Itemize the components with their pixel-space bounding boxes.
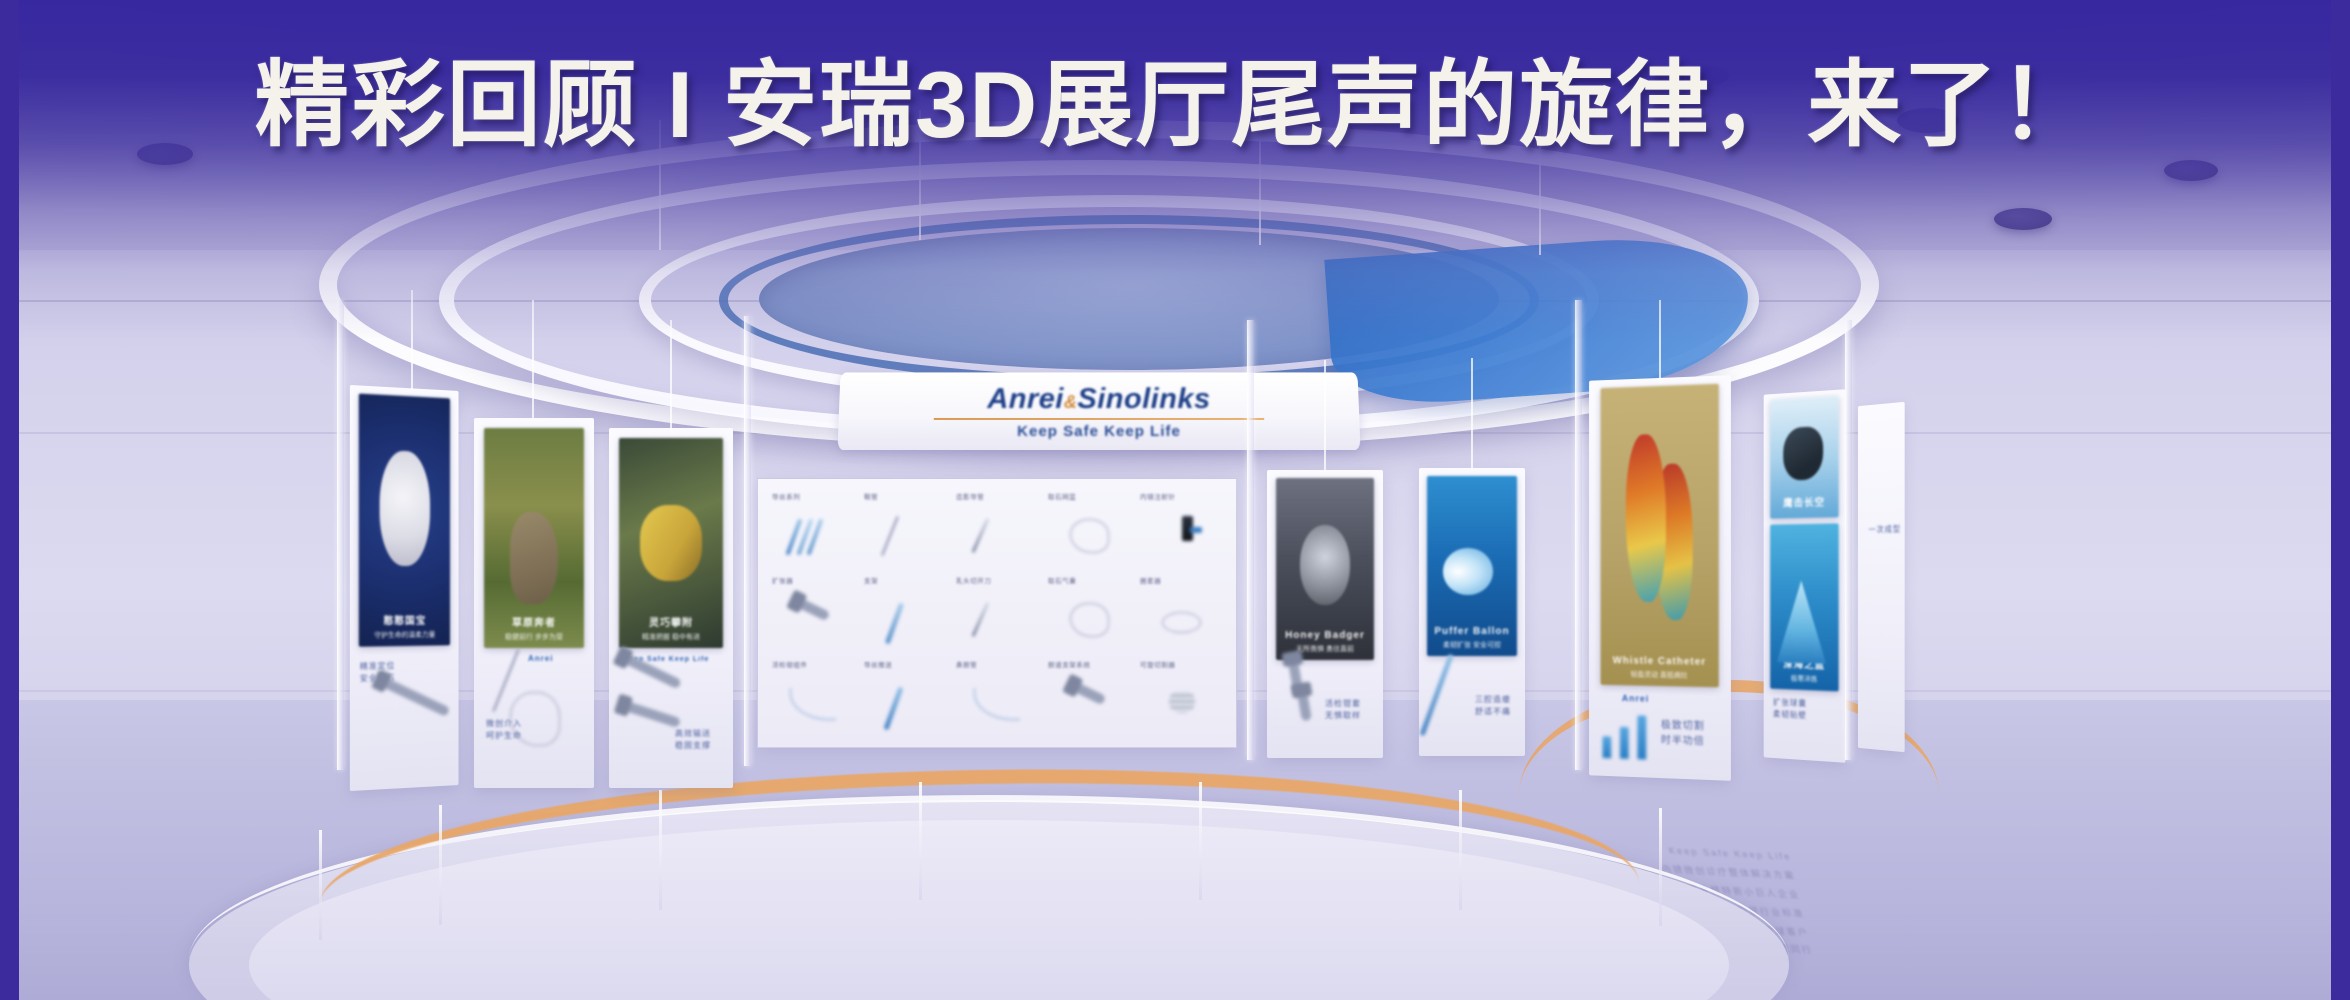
product-label: 可旋切割器 xyxy=(1140,659,1176,669)
frog-poster: 灵巧攀附 精准把握 稳中有进 xyxy=(619,438,723,648)
product-cell: 扩张器 xyxy=(768,573,858,655)
product-cell: 圈套器 xyxy=(1136,573,1226,655)
product-cell: 导丝推送 xyxy=(860,657,950,739)
glass-column xyxy=(1845,320,1852,760)
product-cell: 导丝系列 xyxy=(768,489,858,571)
bee-eater-poster-sub: 轻盈灵动 直抵病灶 xyxy=(1631,671,1688,679)
panel-frog: 灵巧攀附 精准把握 稳中有进 Keep Safe Keep Life 高效输送 … xyxy=(609,428,733,788)
bee-eater-poster: Whistle Catheter 轻盈灵动 直抵病灶 xyxy=(1600,384,1719,688)
product-label: 导丝系列 xyxy=(772,491,800,501)
brand-tagline: Keep Safe Keep Life xyxy=(1017,422,1181,439)
product-grid: 导丝系列 鞘管 造影导管 取石网篮 内镜注射针 扩张器 支架 乳头切开刀 取石气… xyxy=(768,489,1226,739)
product-cell: 可旋切割器 xyxy=(1136,657,1226,739)
panel-bee-eater: Whistle Catheter 轻盈灵动 直抵病灶 Anrei 极致切割 时半… xyxy=(1589,375,1731,781)
ocean-poster-title: Puffer Ballon xyxy=(1433,625,1511,639)
glass-column xyxy=(1247,320,1254,760)
product-label: 扩张器 xyxy=(772,575,793,585)
bee-eater-poster-title: Whistle Catheter xyxy=(1607,654,1712,669)
hanging-wire xyxy=(1471,358,1473,470)
stat-bar-chart xyxy=(1603,712,1647,759)
panel-label-badger: 活检钳套 无惧取样 xyxy=(1325,698,1361,722)
glass-column xyxy=(337,300,344,770)
product-cell: 胆道支架系统 xyxy=(1044,657,1134,739)
panel-badger: Honey Badger 无所畏惧 勇往直前 活检钳套 无惧取样 xyxy=(1267,470,1383,758)
brand-sign: Anrei&Sinolinks Keep Safe Keep Life xyxy=(837,372,1360,450)
panel-logo-bee-eater: Anrei xyxy=(1622,693,1649,704)
brand-name-right: Sinolinks xyxy=(1077,383,1210,415)
page-title: 精彩回顾 I 安瑞3D展厅尾声的旋律，来了！ xyxy=(255,58,2096,152)
badger-poster: Honey Badger 无所畏惧 勇往直前 xyxy=(1276,478,1373,660)
panel-kangaroo: 草原奔者 稳健前行 步步为营 Anrei 微创介入 呵护生命 xyxy=(474,418,594,788)
product-cell: 内镜注射针 xyxy=(1136,489,1226,571)
kangaroo-poster-sub: 稳健前行 步步为营 xyxy=(505,634,563,641)
eagle-poster-title: 鹰击长空 xyxy=(1774,496,1834,511)
frame-border-left xyxy=(0,0,19,1000)
product-label: 取石网篮 xyxy=(1048,491,1076,501)
product-cell: 乳头切开刀 xyxy=(952,573,1042,655)
product-label: 胆道支架系统 xyxy=(1048,659,1091,669)
badger-poster-sub: 无所畏惧 勇往直前 xyxy=(1296,646,1354,653)
product-label: 鞘管 xyxy=(864,491,878,501)
panda-poster-title: 憨憨国宝 xyxy=(364,615,444,629)
brand-name: Anrei&Sinolinks xyxy=(987,383,1211,416)
product-label: 活检钳组件 xyxy=(772,659,808,669)
panel-label-eagle: 扩张球囊 柔韧贴壁 xyxy=(1773,697,1807,723)
product-cell: 鼻胆管 xyxy=(952,657,1042,739)
ocean-poster-sub: 柔韧扩张 安全可控 xyxy=(1443,642,1501,649)
product-cell: 取石气囊 xyxy=(1044,573,1134,655)
product-label: 内镜注射针 xyxy=(1140,491,1176,501)
hanging-wire xyxy=(1324,360,1326,472)
product-label: 造影导管 xyxy=(956,491,984,501)
panel-label-frog: 高效输送 稳固支撑 xyxy=(675,728,711,752)
panel-label-right-edge: 一次成型 xyxy=(1869,523,1901,536)
iceberg-poster: 深海之蓝 极寒淬炼 xyxy=(1770,523,1839,691)
panel-logo-kangaroo: Anrei xyxy=(528,654,553,663)
hanging-wire xyxy=(411,290,413,390)
frog-poster-title: 灵巧攀附 xyxy=(625,617,717,631)
product-label: 鼻胆管 xyxy=(956,659,977,669)
panel-eagle: 鹰击长空 深海之蓝 极寒淬炼 扩张球囊 柔韧贴壁 xyxy=(1764,389,1846,763)
glass-column xyxy=(744,316,751,766)
panel-label-bee-eater: 极致切割 时半功倍 xyxy=(1661,718,1705,749)
product-cell: 活检钳组件 xyxy=(768,657,858,739)
panel-right-edge: 一次成型 xyxy=(1858,402,1905,752)
frog-poster-sub: 精准把握 稳中有进 xyxy=(642,634,700,641)
badger-poster-title: Honey Badger xyxy=(1282,629,1368,643)
panda-poster: 憨憨国宝 守护生命的温柔力量 xyxy=(359,394,450,647)
hanging-wire xyxy=(532,300,534,420)
panda-poster-sub: 守护生命的温柔力量 xyxy=(374,631,435,639)
banner-image: 微创介入 守护生命的每一次呼吸 高效精准 让诊疗更加从容 匠心品质 源自对细节的… xyxy=(0,0,2350,1000)
banner-title-area: 精彩回顾 I 安瑞3D展厅尾声的旋律，来了！ xyxy=(0,0,2350,210)
panel-label-ocean: 三腔造瘘 舒适不痛 xyxy=(1475,694,1511,718)
brand-name-left: Anrei xyxy=(987,383,1064,415)
ocean-poster: Puffer Ballon 柔韧扩张 安全可控 xyxy=(1427,476,1516,656)
product-label: 圈套器 xyxy=(1140,575,1161,585)
kangaroo-poster: 草原奔者 稳健前行 步步为营 xyxy=(484,428,585,648)
ceiling-light-icon xyxy=(1994,208,2052,230)
panel-panda: 憨憨国宝 守护生命的温柔力量 精准定位 安全取石 xyxy=(350,385,459,791)
product-cell: 取石网篮 xyxy=(1044,489,1134,571)
hanging-wire xyxy=(1659,300,1661,382)
iceberg-poster-title: 深海之蓝 xyxy=(1774,658,1834,673)
iceberg-poster-sub: 极寒淬炼 xyxy=(1791,675,1818,683)
brand-ampersand: & xyxy=(1064,392,1078,412)
hanging-wire xyxy=(670,320,672,430)
product-label: 取石气囊 xyxy=(1048,575,1076,585)
product-cell: 鞘管 xyxy=(860,489,950,571)
product-cell: 造影导管 xyxy=(952,489,1042,571)
panel-ocean: Puffer Ballon 柔韧扩张 安全可控 三腔造瘘 舒适不痛 xyxy=(1419,468,1525,756)
product-cell: 支架 xyxy=(860,573,950,655)
product-label: 导丝推送 xyxy=(864,659,892,669)
kangaroo-poster-title: 草原奔者 xyxy=(490,617,579,631)
product-label: 支架 xyxy=(864,575,878,585)
glass-column xyxy=(1575,300,1582,770)
frame-border-right xyxy=(2331,0,2350,1000)
product-label: 乳头切开刀 xyxy=(956,575,992,585)
product-showcase-panel: 导丝系列 鞘管 造影导管 取石网篮 内镜注射针 扩张器 支架 乳头切开刀 取石气… xyxy=(757,478,1237,748)
brand-underline xyxy=(934,417,1264,419)
eagle-poster: 鹰击长空 xyxy=(1770,396,1839,519)
